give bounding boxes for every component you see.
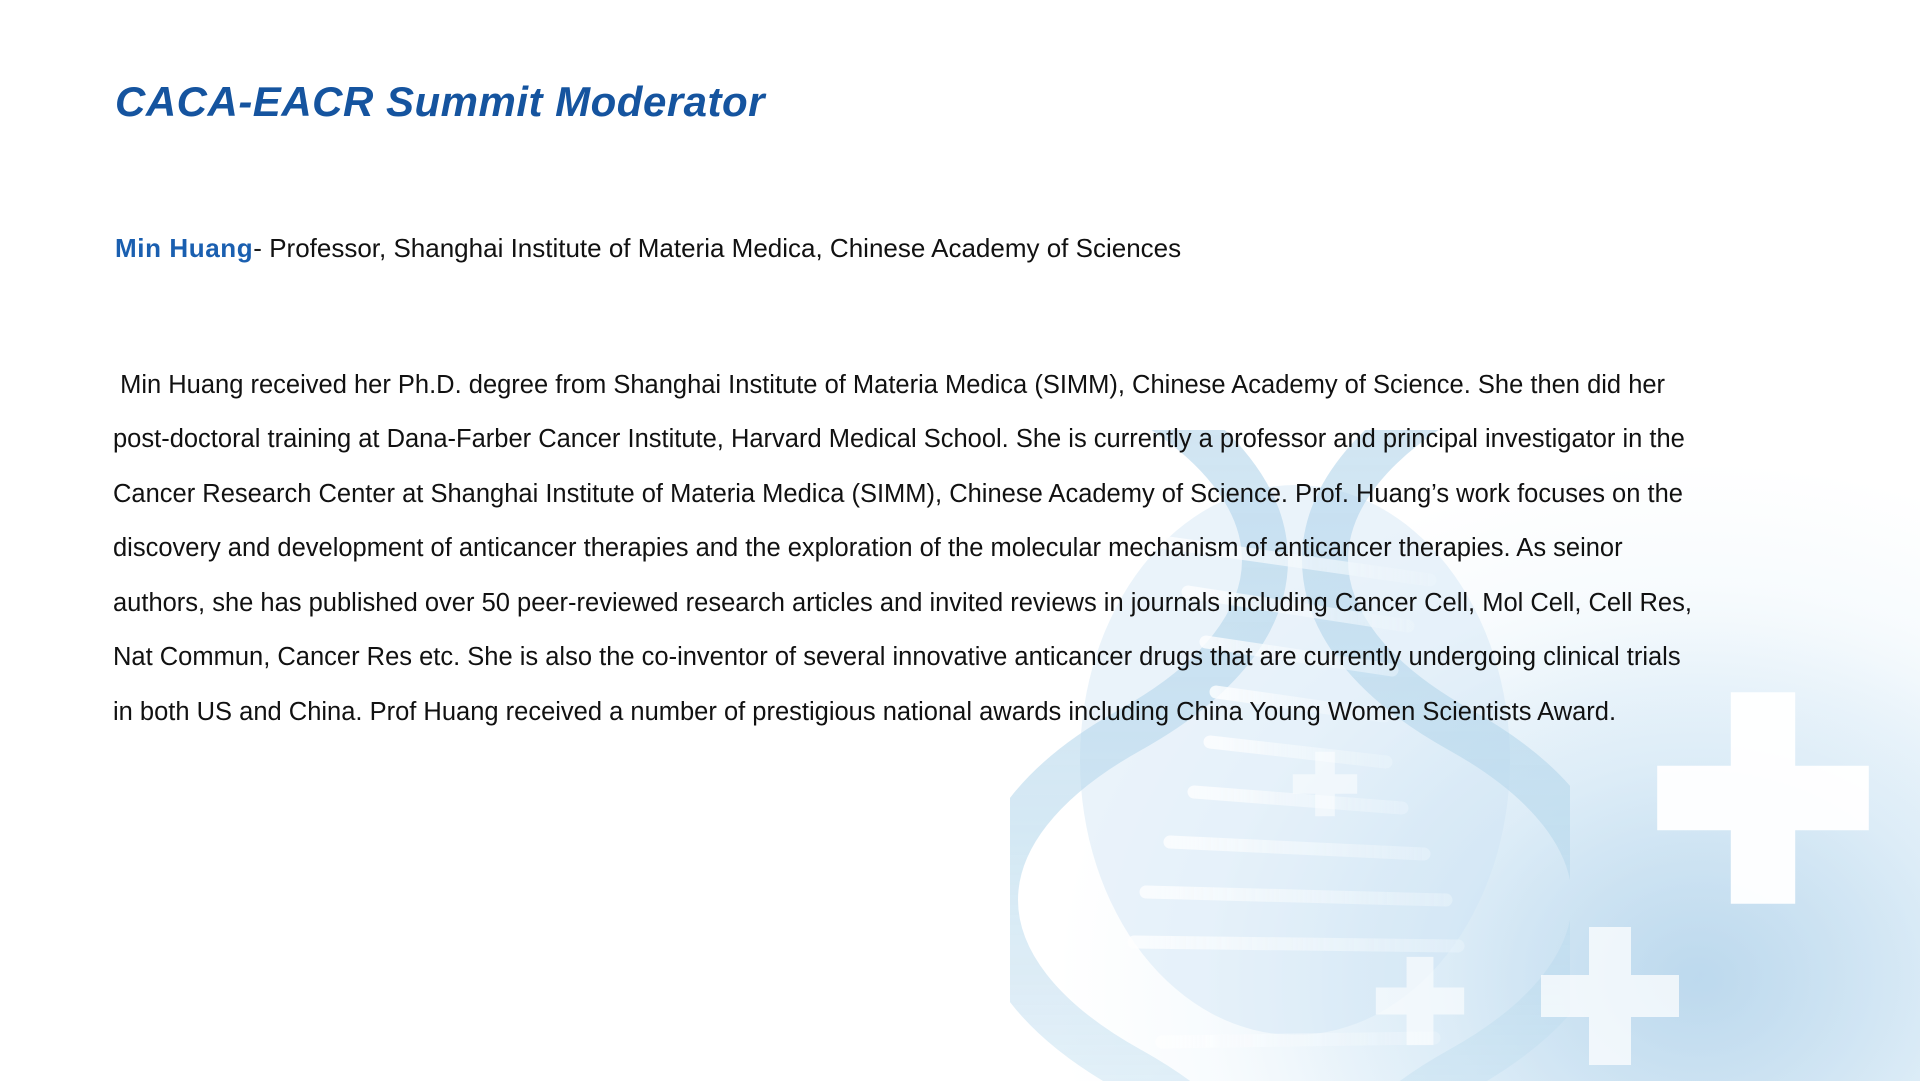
moderator-affiliation: Professor, Shanghai Institute of Materia… [269,233,1181,263]
moderator-line: Min Huang- Professor, Shanghai Institute… [115,233,1181,264]
moderator-biography: Min Huang received her Ph.D. degree from… [113,358,1703,740]
slide-canvas: CACA-EACR Summit Moderator Min Huang- Pr… [0,0,1920,1081]
medical-cross-icon [1535,921,1685,1071]
medical-cross-icon [1372,953,1468,1049]
moderator-separator: - [253,233,262,263]
moderator-name: Min Huang [115,233,253,263]
page-title: CACA-EACR Summit Moderator [115,78,765,126]
medical-cross-icon [1290,749,1360,819]
